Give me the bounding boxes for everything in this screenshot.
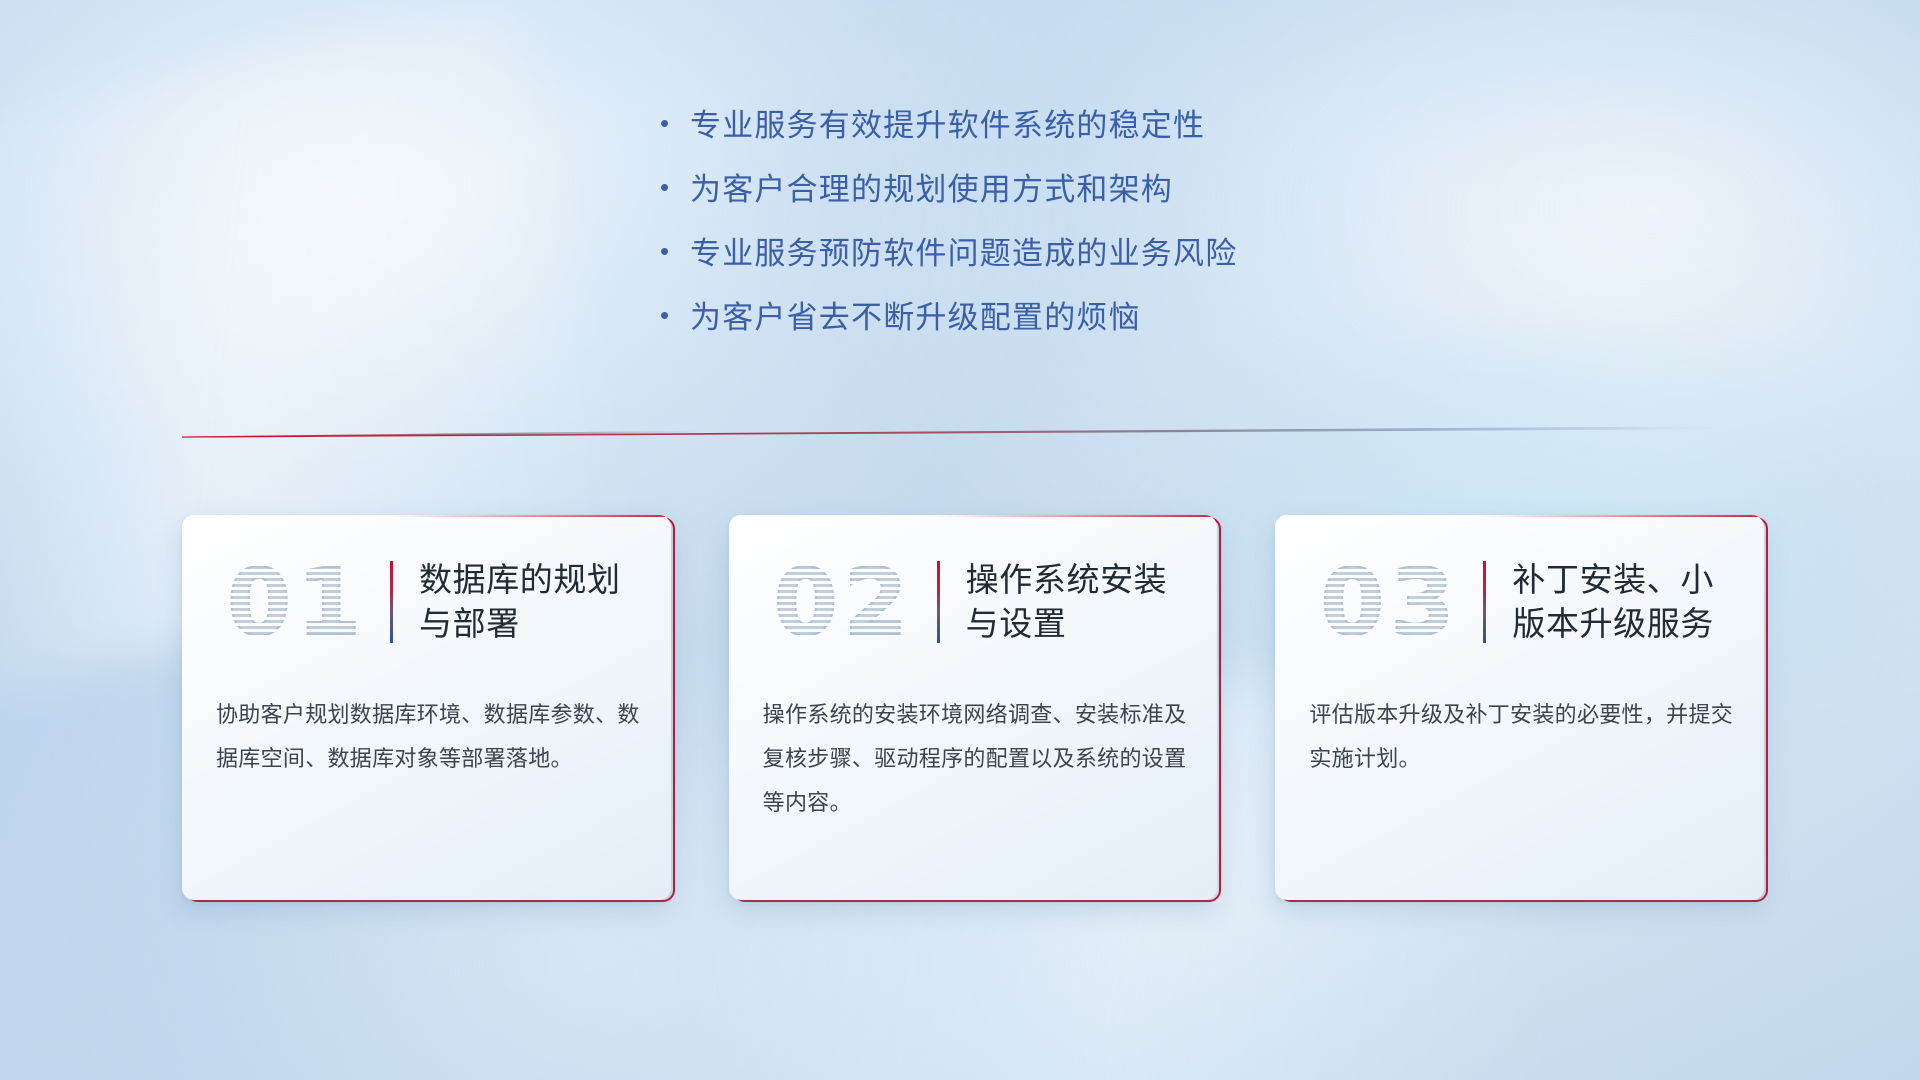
section-divider [182,424,1722,438]
bullet-item: • 专业服务有效提升软件系统的稳定性 [660,100,1480,164]
service-card-grid: 01 01 数据库的规划与部署 协助客户规划数据库环境、数据库参数、数据库空间、… [182,515,1764,915]
card-header: 02 02 操作系统安装与设置 [729,537,1192,667]
card-number-outline: 02 [751,542,937,662]
bullet-dot-icon: • [660,110,690,136]
service-card[interactable]: 03 03 补丁安装、小版本升级服务 评估版本升级及补丁安装的必要性，并提交实施… [1275,515,1764,900]
bullet-dot-icon: • [660,238,690,264]
card-surface: 01 01 数据库的规划与部署 协助客户规划数据库环境、数据库参数、数据库空间、… [182,515,671,900]
card-accent-bar [390,561,393,643]
bullet-item: • 专业服务预防软件问题造成的业务风险 [660,228,1480,292]
service-card[interactable]: 02 02 操作系统安装与设置 操作系统的安装环境网络调查、安装标准及复核步骤、… [729,515,1218,900]
bullet-dot-icon: • [660,174,690,200]
bullet-dot-icon: • [660,302,690,328]
card-description: 评估版本升级及补丁安装的必要性，并提交实施计划。 [1309,693,1734,781]
card-surface: 02 02 操作系统安装与设置 操作系统的安装环境网络调查、安装标准及复核步骤、… [729,515,1218,900]
card-accent-bar [937,561,940,643]
card-description: 协助客户规划数据库环境、数据库参数、数据库空间、数据库对象等部署落地。 [216,693,641,781]
card-surface: 03 03 补丁安装、小版本升级服务 评估版本升级及补丁安装的必要性，并提交实施… [1275,515,1764,900]
card-number-watermark: 01 01 [204,542,390,662]
service-card[interactable]: 01 01 数据库的规划与部署 协助客户规划数据库环境、数据库参数、数据库空间、… [182,515,671,900]
card-description: 操作系统的安装环境网络调查、安装标准及复核步骤、驱动程序的配置以及系统的设置等内… [763,693,1188,825]
bullet-label: 专业服务有效提升软件系统的稳定性 [690,100,1205,145]
card-title: 操作系统安装与设置 [966,558,1192,646]
bullet-label: 专业服务预防软件问题造成的业务风险 [690,228,1237,273]
card-header: 03 03 补丁安装、小版本升级服务 [1275,537,1738,667]
card-number-watermark: 03 03 [1297,542,1483,662]
card-accent-bar [1483,561,1486,643]
card-title: 数据库的规划与部署 [419,558,645,646]
bullet-label: 为客户合理的规划使用方式和架构 [690,164,1173,209]
bullet-item: • 为客户合理的规划使用方式和架构 [660,164,1480,228]
card-header: 01 01 数据库的规划与部署 [182,537,645,667]
card-title: 补丁安装、小版本升级服务 [1512,558,1738,646]
card-number-outline: 03 [1297,542,1483,662]
bullet-label: 为客户省去不断升级配置的烦恼 [690,292,1141,337]
bullet-item: • 为客户省去不断升级配置的烦恼 [660,292,1480,356]
card-number-watermark: 02 02 [751,542,937,662]
divider-wedge-icon [182,424,1722,438]
card-number-outline: 01 [204,542,390,662]
benefits-bullet-list: • 专业服务有效提升软件系统的稳定性 • 为客户合理的规划使用方式和架构 • 专… [660,100,1480,356]
